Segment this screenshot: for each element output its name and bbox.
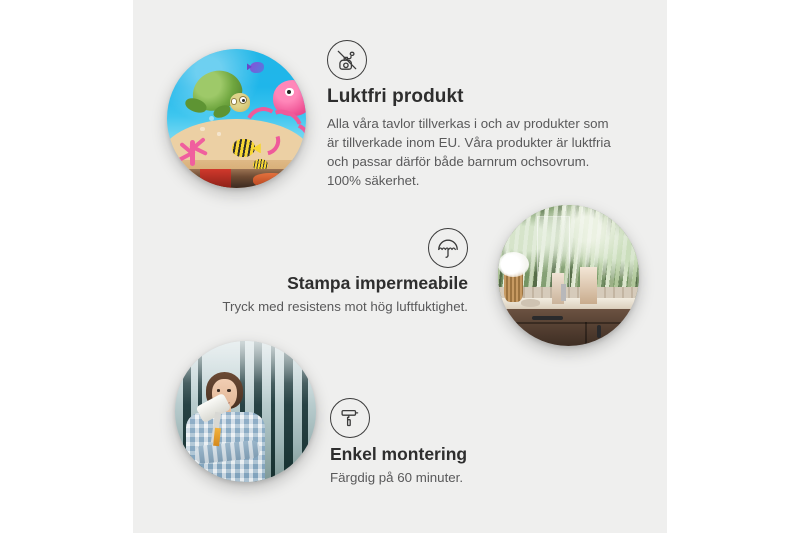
feature-body: Färgdig på 60 minuter.: [330, 469, 600, 487]
sea-scene: [167, 49, 306, 188]
cabinet-handle: [622, 325, 626, 338]
screenshot-root: Luktfri produkt Alla våra tavlor tillver…: [0, 0, 800, 533]
woman-eye: [227, 389, 231, 392]
forest-scene: [175, 341, 316, 482]
paint-roller-icon: [330, 398, 370, 438]
crab: [253, 173, 289, 187]
feature-easy-mounting: Enkel montering Färgdig på 60 minuter.: [330, 398, 600, 487]
umbrella-icon: [428, 228, 468, 268]
drawer-handle: [532, 316, 563, 320]
sea-foreground-strip: [167, 169, 306, 188]
white-flowers: [498, 252, 529, 277]
vanity-cabinet: [498, 309, 639, 346]
feature-waterproof-print: Stampa impermeabile Tryck med resistens …: [200, 228, 468, 316]
turtle-eye: [231, 98, 237, 104]
fish: [250, 62, 264, 73]
photo-bathroom-botanical-wallpaper: [498, 205, 639, 346]
fish: [232, 139, 254, 157]
feature-body: Alla våra tavlor tillverkas i och av pro…: [327, 114, 619, 190]
cabinet-handle: [597, 325, 601, 338]
rolled-towel: [580, 267, 597, 304]
feature-title: Enkel montering: [330, 444, 600, 465]
bubble-icon: [217, 132, 220, 135]
bathroom-scene: [498, 205, 639, 346]
soap-dish: [521, 299, 541, 306]
turtle-eye: [239, 96, 247, 104]
coral: [173, 130, 215, 166]
feature-title: Luktfri produkt: [327, 86, 627, 108]
octopus-eye: [285, 88, 293, 96]
feature-body: Tryck med resistens mot hög luftfuktighe…: [200, 298, 468, 316]
photo-decorator-forest-wallpaper: [175, 341, 316, 482]
no-fragrance-icon: [327, 40, 367, 80]
cabinet-seam: [585, 322, 587, 346]
photo-sea-life-mural: [167, 49, 306, 188]
feature-title: Stampa impermeabile: [200, 273, 468, 294]
faucet: [561, 284, 565, 301]
woman-eye: [217, 389, 221, 392]
feature-icon-wrap: [200, 228, 468, 268]
feature-odour-free: Luktfri produkt Alla våra tavlor tillver…: [327, 40, 627, 190]
sea-foreground-object: [200, 169, 231, 188]
cabinet-seam: [498, 322, 639, 324]
